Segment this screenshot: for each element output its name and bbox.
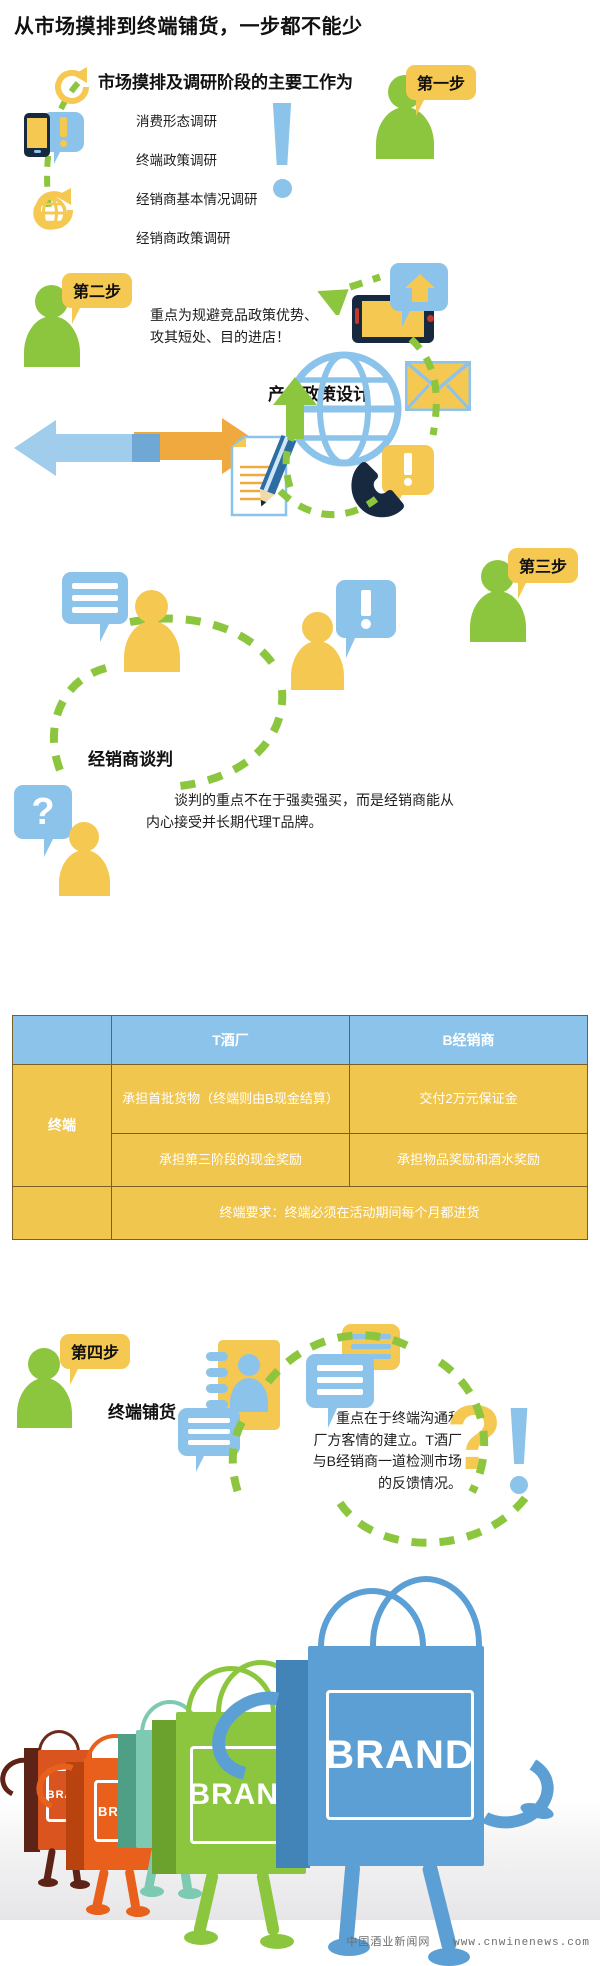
person-icon bbox=[122, 590, 180, 672]
triangle-arrow-icon bbox=[318, 275, 360, 315]
step-3-badge-label: 第三步 bbox=[508, 548, 578, 583]
step-1-section: 市场摸排及调研阶段的主要工作为 消费形态调研 终端政策调研 经销商基本情况调研 … bbox=[0, 55, 600, 245]
refresh-arrow-icon bbox=[48, 63, 96, 111]
terminal-policy-table: T酒厂 B经销商 终端 承担首批货物（终端则由B现金结算） 交付2万元保证金 承… bbox=[12, 1015, 588, 1240]
globe-icon bbox=[22, 180, 82, 238]
step-3-badge: 第三步 bbox=[508, 548, 578, 583]
envelope-icon bbox=[405, 361, 471, 416]
step-4-paragraph: 重点在于终端沟通和 厂方客情的建立。T酒厂 与B经销商一道检测市场 的反馈情况。 bbox=[262, 1408, 462, 1495]
footer-url: www.cnwinenews.com bbox=[453, 1937, 590, 1949]
step-2-badge-label: 第二步 bbox=[62, 273, 132, 308]
step-3-paragraph-line-1: 谈判的重点不在于强卖强买，而是经销商能从 bbox=[146, 790, 466, 812]
table-cell: 承担第三阶段的现金奖励 bbox=[112, 1134, 350, 1187]
table-cell: 承担首批货物（终端则由B现金结算） bbox=[112, 1065, 350, 1134]
home-icon bbox=[404, 272, 436, 304]
table-cell: 交付2万元保证金 bbox=[350, 1065, 588, 1134]
footer-site-name: 中国酒业新闻网 bbox=[346, 1936, 430, 1948]
step-4-section: 第四步 终端铺货 bbox=[0, 1290, 600, 1520]
footer-credit: 中国酒业新闻网 www.cnwinenews.com bbox=[346, 1933, 590, 1949]
bag-1: BRAND bbox=[276, 1646, 488, 1872]
table-header-b-dealer: B经销商 bbox=[350, 1016, 588, 1065]
bag-1-label: BRAND bbox=[326, 1690, 474, 1820]
pencil-document-icon bbox=[230, 435, 298, 522]
step-2-badge: 第二步 bbox=[62, 273, 132, 308]
phone-call-icon bbox=[348, 460, 410, 520]
step-1-heading: 市场摸排及调研阶段的主要工作为 bbox=[98, 68, 353, 93]
exclaim-mark-icon bbox=[508, 1408, 530, 1494]
left-right-arrow-icon bbox=[14, 400, 264, 493]
step-4-paragraph-line-2: 厂方客情的建立。T酒厂 bbox=[262, 1430, 462, 1452]
step-3-paragraph-line-2: 内心接受并长期代理T品牌。 bbox=[146, 812, 466, 834]
step-3-paragraph: 谈判的重点不在于强卖强买，而是经销商能从 内心接受并长期代理T品牌。 bbox=[146, 790, 466, 833]
step-3-heading: 经销商谈判 bbox=[88, 745, 173, 770]
step-4-paragraph-line-1: 重点在于终端沟通和 bbox=[262, 1408, 462, 1430]
tablet-icon bbox=[350, 263, 460, 343]
step-1-badge: 第一步 bbox=[406, 65, 476, 100]
table-row: 终端 承担首批货物（终端则由B现金结算） 交付2万元保证金 bbox=[13, 1065, 588, 1134]
step-4-badge: 第四步 bbox=[60, 1334, 130, 1369]
step-1-badge-label: 第一步 bbox=[406, 65, 476, 100]
step-3-section: 第三步 经销商谈判 ? 谈判的重点不在于强卖强买，而是经销商能从 内心接受并长期… bbox=[0, 540, 600, 980]
question-mark-icon: ? bbox=[446, 1402, 502, 1476]
exclaim-mark-icon bbox=[270, 103, 294, 198]
up-arrow-icon bbox=[272, 375, 318, 441]
infographic-page: 从市场摸排到终端铺货，一步都不能少 bbox=[0, 0, 600, 1955]
table-footer-cell: 终端要求：终端必须在活动期间每个月都进货 bbox=[112, 1187, 588, 1240]
table-header-blank bbox=[13, 1016, 112, 1065]
table-row-label-blank bbox=[13, 1187, 112, 1240]
step-4-paragraph-line-3: 与B经销商一道检测市场 bbox=[262, 1451, 462, 1473]
list-item: 经销商政策调研 bbox=[136, 227, 396, 247]
step-2-section: 第二步 重点为规避竞品政策优势、 攻其短处、目的进店！ 产品政策设计 bbox=[0, 255, 600, 505]
phone-icon bbox=[22, 110, 86, 162]
person-icon bbox=[58, 822, 110, 896]
page-title: 从市场摸排到终端铺货，一步都不能少 bbox=[14, 10, 574, 39]
table-footer-row: 终端要求：终端必须在活动期间每个月都进货 bbox=[13, 1187, 588, 1240]
shopping-bags-illustration: BRAND BRAND bbox=[0, 1490, 600, 1920]
list-item: 消费形态调研 bbox=[136, 110, 396, 130]
table-header-t-factory: T酒厂 bbox=[112, 1016, 350, 1065]
table-cell: 承担物品奖励和酒水奖励 bbox=[350, 1134, 588, 1187]
list-item: 终端政策调研 bbox=[136, 149, 396, 169]
step-4-heading: 终端铺货 bbox=[108, 1398, 176, 1423]
table-row-label: 终端 bbox=[13, 1065, 112, 1187]
step-4-badge-label: 第四步 bbox=[60, 1334, 130, 1369]
list-item: 经销商基本情况调研 bbox=[136, 188, 396, 208]
table-header-row: T酒厂 B经销商 bbox=[13, 1016, 588, 1065]
step-1-list: 消费形态调研 终端政策调研 经销商基本情况调研 经销商政策调研 bbox=[136, 110, 396, 247]
